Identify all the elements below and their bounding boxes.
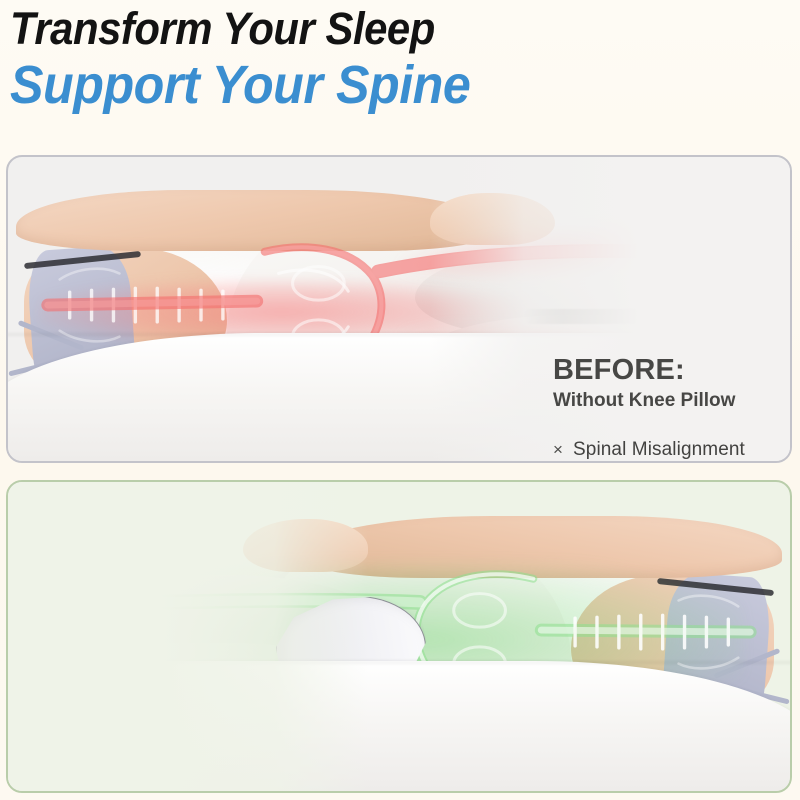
list-item-label: Spinal Misalignment — [573, 439, 745, 461]
headline-line-2: Support Your Spine — [10, 55, 735, 115]
before-kicker: BEFORE: — [553, 354, 792, 387]
product-infographic: Transform Your Sleep Support Your Spine — [0, 0, 800, 800]
arm-shape — [297, 516, 782, 578]
arm-shape — [16, 190, 501, 251]
after-panel: AFTER: With Knee Pillow ✓ Spinal Misalig… — [6, 480, 792, 793]
headline-line-1: Transform Your Sleep — [10, 2, 735, 55]
list-item: × Spinal Misalignment — [553, 439, 792, 461]
after-text-scrim — [8, 482, 368, 791]
before-callout: BEFORE: Without Knee Pillow × Spinal Mis… — [553, 354, 792, 463]
before-bullet-list: × Spinal Misalignment × Pressure Build-U… — [553, 439, 792, 463]
before-panel: BEFORE: Without Knee Pillow × Spinal Mis… — [6, 155, 792, 463]
cross-icon: × — [553, 440, 573, 460]
before-subkicker: Without Knee Pillow — [553, 389, 792, 413]
headline-block: Transform Your Sleep Support Your Spine — [10, 2, 790, 115]
